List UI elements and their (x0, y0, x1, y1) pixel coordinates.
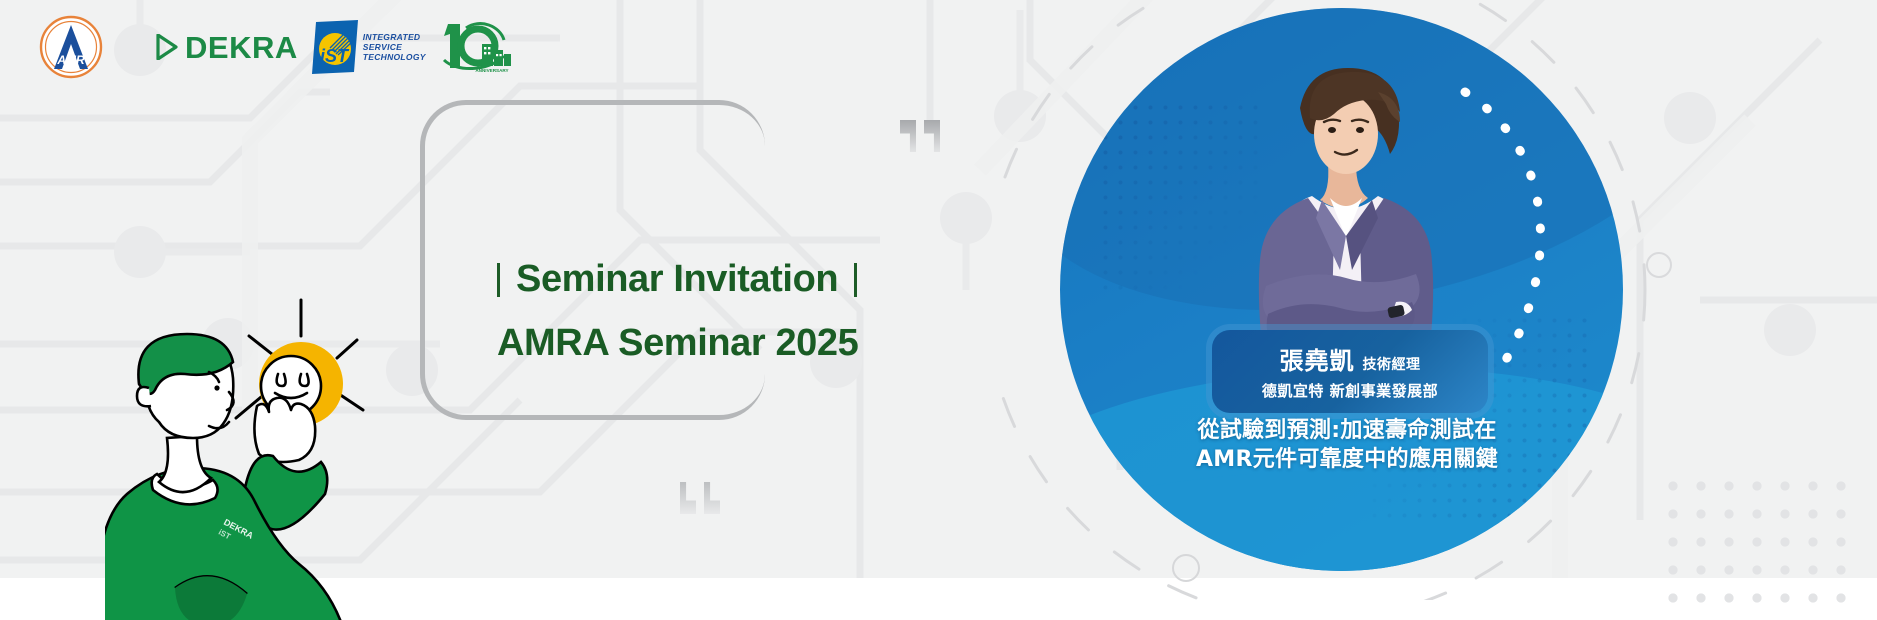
seminar-subtitle: AMRA Seminar 2025 (497, 322, 917, 365)
title-line-1-row: Seminar Invitation (497, 258, 917, 301)
speaker-topic-line-1: 從試驗到預測:加速壽命測試在 (1112, 416, 1582, 445)
seminar-title: Seminar Invitation (516, 258, 838, 301)
speaker-name-badge: 張堯凱 技術經理 德凱宜特 新創事業發展部 (1212, 330, 1488, 413)
title-block: Seminar Invitation AMRA Seminar 2025 (497, 258, 917, 365)
logo-row: AMR DEKRA iST INTEGRATED SERVICE (38, 14, 516, 80)
ist-tagline-line-3: TECHNOLOGY (363, 52, 426, 62)
speaker-role: 技術經理 (1363, 354, 1421, 374)
close-quote-icon (680, 482, 720, 514)
title-left-tick (497, 263, 500, 297)
svg-text:iST: iST (320, 46, 350, 66)
speaker-topic: 從試驗到預測:加速壽命測試在 AMR元件可靠度中的應用關鍵 (1112, 416, 1582, 474)
ist-tagline-line-1: INTEGRATED (363, 32, 426, 42)
speaker-name-row: 張堯凱 技術經理 (1216, 341, 1484, 376)
speaker-circle-panel: 張堯凱 技術經理 德凱宜特 新創事業發展部 從試驗到預測:加速壽命測試在 AMR… (1060, 8, 1623, 571)
ist-tagline-line-2: SERVICE (363, 42, 426, 52)
dekra-logo-text: DEKRA (185, 32, 298, 63)
person-with-lightbulb-illustration: DEKRA iST (105, 288, 405, 620)
amr-logo-text: AMR (56, 53, 85, 67)
hand (254, 398, 315, 462)
ist-logo[interactable]: iST INTEGRATED SERVICE TECHNOLOGY (308, 20, 426, 74)
seminar-banner: AMR DEKRA iST INTEGRATED SERVICE (0, 0, 1877, 620)
ist-mark-icon: iST (308, 20, 360, 74)
amr-logo[interactable]: AMR (38, 14, 104, 80)
neck (159, 436, 211, 492)
dekra-logo[interactable]: DEKRA (156, 32, 298, 63)
open-quote-icon (900, 120, 940, 152)
anniversary-sub-text: ANNIVERSARY (475, 68, 508, 73)
speaker-name: 張堯凱 (1280, 341, 1355, 376)
ear (137, 387, 151, 406)
dot-grid-decoration (1659, 472, 1855, 612)
ist-tagline: INTEGRATED SERVICE TECHNOLOGY (363, 32, 426, 62)
speaker-topic-line-2: AMR元件可靠度中的應用關鍵 (1112, 445, 1582, 474)
decorative-circle-small-2 (1646, 252, 1672, 278)
title-right-tick (854, 263, 857, 297)
speaker-organization: 德凱宜特 新創事業發展部 (1216, 380, 1484, 401)
anniversary-logo[interactable]: ANNIVERSARY (442, 20, 516, 74)
dekra-triangle-icon (156, 34, 178, 60)
